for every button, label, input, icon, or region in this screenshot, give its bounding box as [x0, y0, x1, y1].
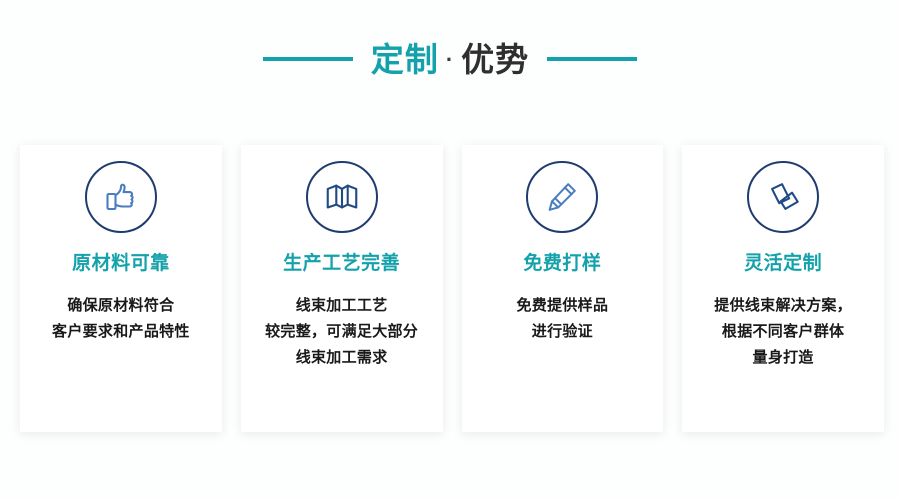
feature-card[interactable]: 灵活定制 提供线束解决方案， 根据不同客户群体 量身打造: [682, 145, 884, 432]
page-title: 定制 · 优势: [371, 43, 529, 76]
feature-card[interactable]: 生产工艺完善 线束加工工艺 较完整，可满足大部分 线束加工需求: [241, 145, 443, 432]
pencil-icon: [543, 178, 581, 216]
page-title-separator: ·: [443, 49, 457, 71]
header-rule-right: [547, 57, 637, 61]
section-header: 定制 · 优势: [0, 30, 900, 88]
icon-circle: [526, 161, 598, 233]
feature-card[interactable]: 原材料可靠 确保原材料符合 客户要求和产品特性: [20, 145, 222, 432]
feature-card-title: 原材料可靠: [72, 253, 170, 276]
feature-cards-row: 原材料可靠 确保原材料符合 客户要求和产品特性 生产工艺完善 线束加工工艺 较完…: [20, 145, 884, 432]
overlapping-sheets-icon: [764, 178, 802, 216]
page-title-accent: 定制: [371, 43, 439, 76]
folded-map-icon: [323, 178, 361, 216]
feature-card[interactable]: 免费打样 免费提供样品 进行验证: [462, 145, 664, 432]
icon-circle: [747, 161, 819, 233]
feature-card-body: 确保原材料符合 客户要求和产品特性: [44, 293, 198, 345]
page-title-plain: 优势: [461, 43, 529, 76]
header-rule-left: [263, 57, 353, 61]
thumbs-up-icon: [101, 177, 141, 217]
icon-circle: [306, 161, 378, 233]
feature-card-body: 线束加工工艺 较完整，可满足大部分 线束加工需求: [257, 293, 426, 371]
feature-card-title: 免费打样: [523, 253, 601, 276]
feature-card-title: 灵活定制: [744, 253, 822, 276]
feature-card-title: 生产工艺完善: [283, 253, 400, 276]
feature-card-body: 免费提供样品 进行验证: [508, 293, 616, 345]
icon-circle: [85, 161, 157, 233]
feature-card-body: 提供线束解决方案， 根据不同客户群体 量身打造: [706, 293, 860, 371]
